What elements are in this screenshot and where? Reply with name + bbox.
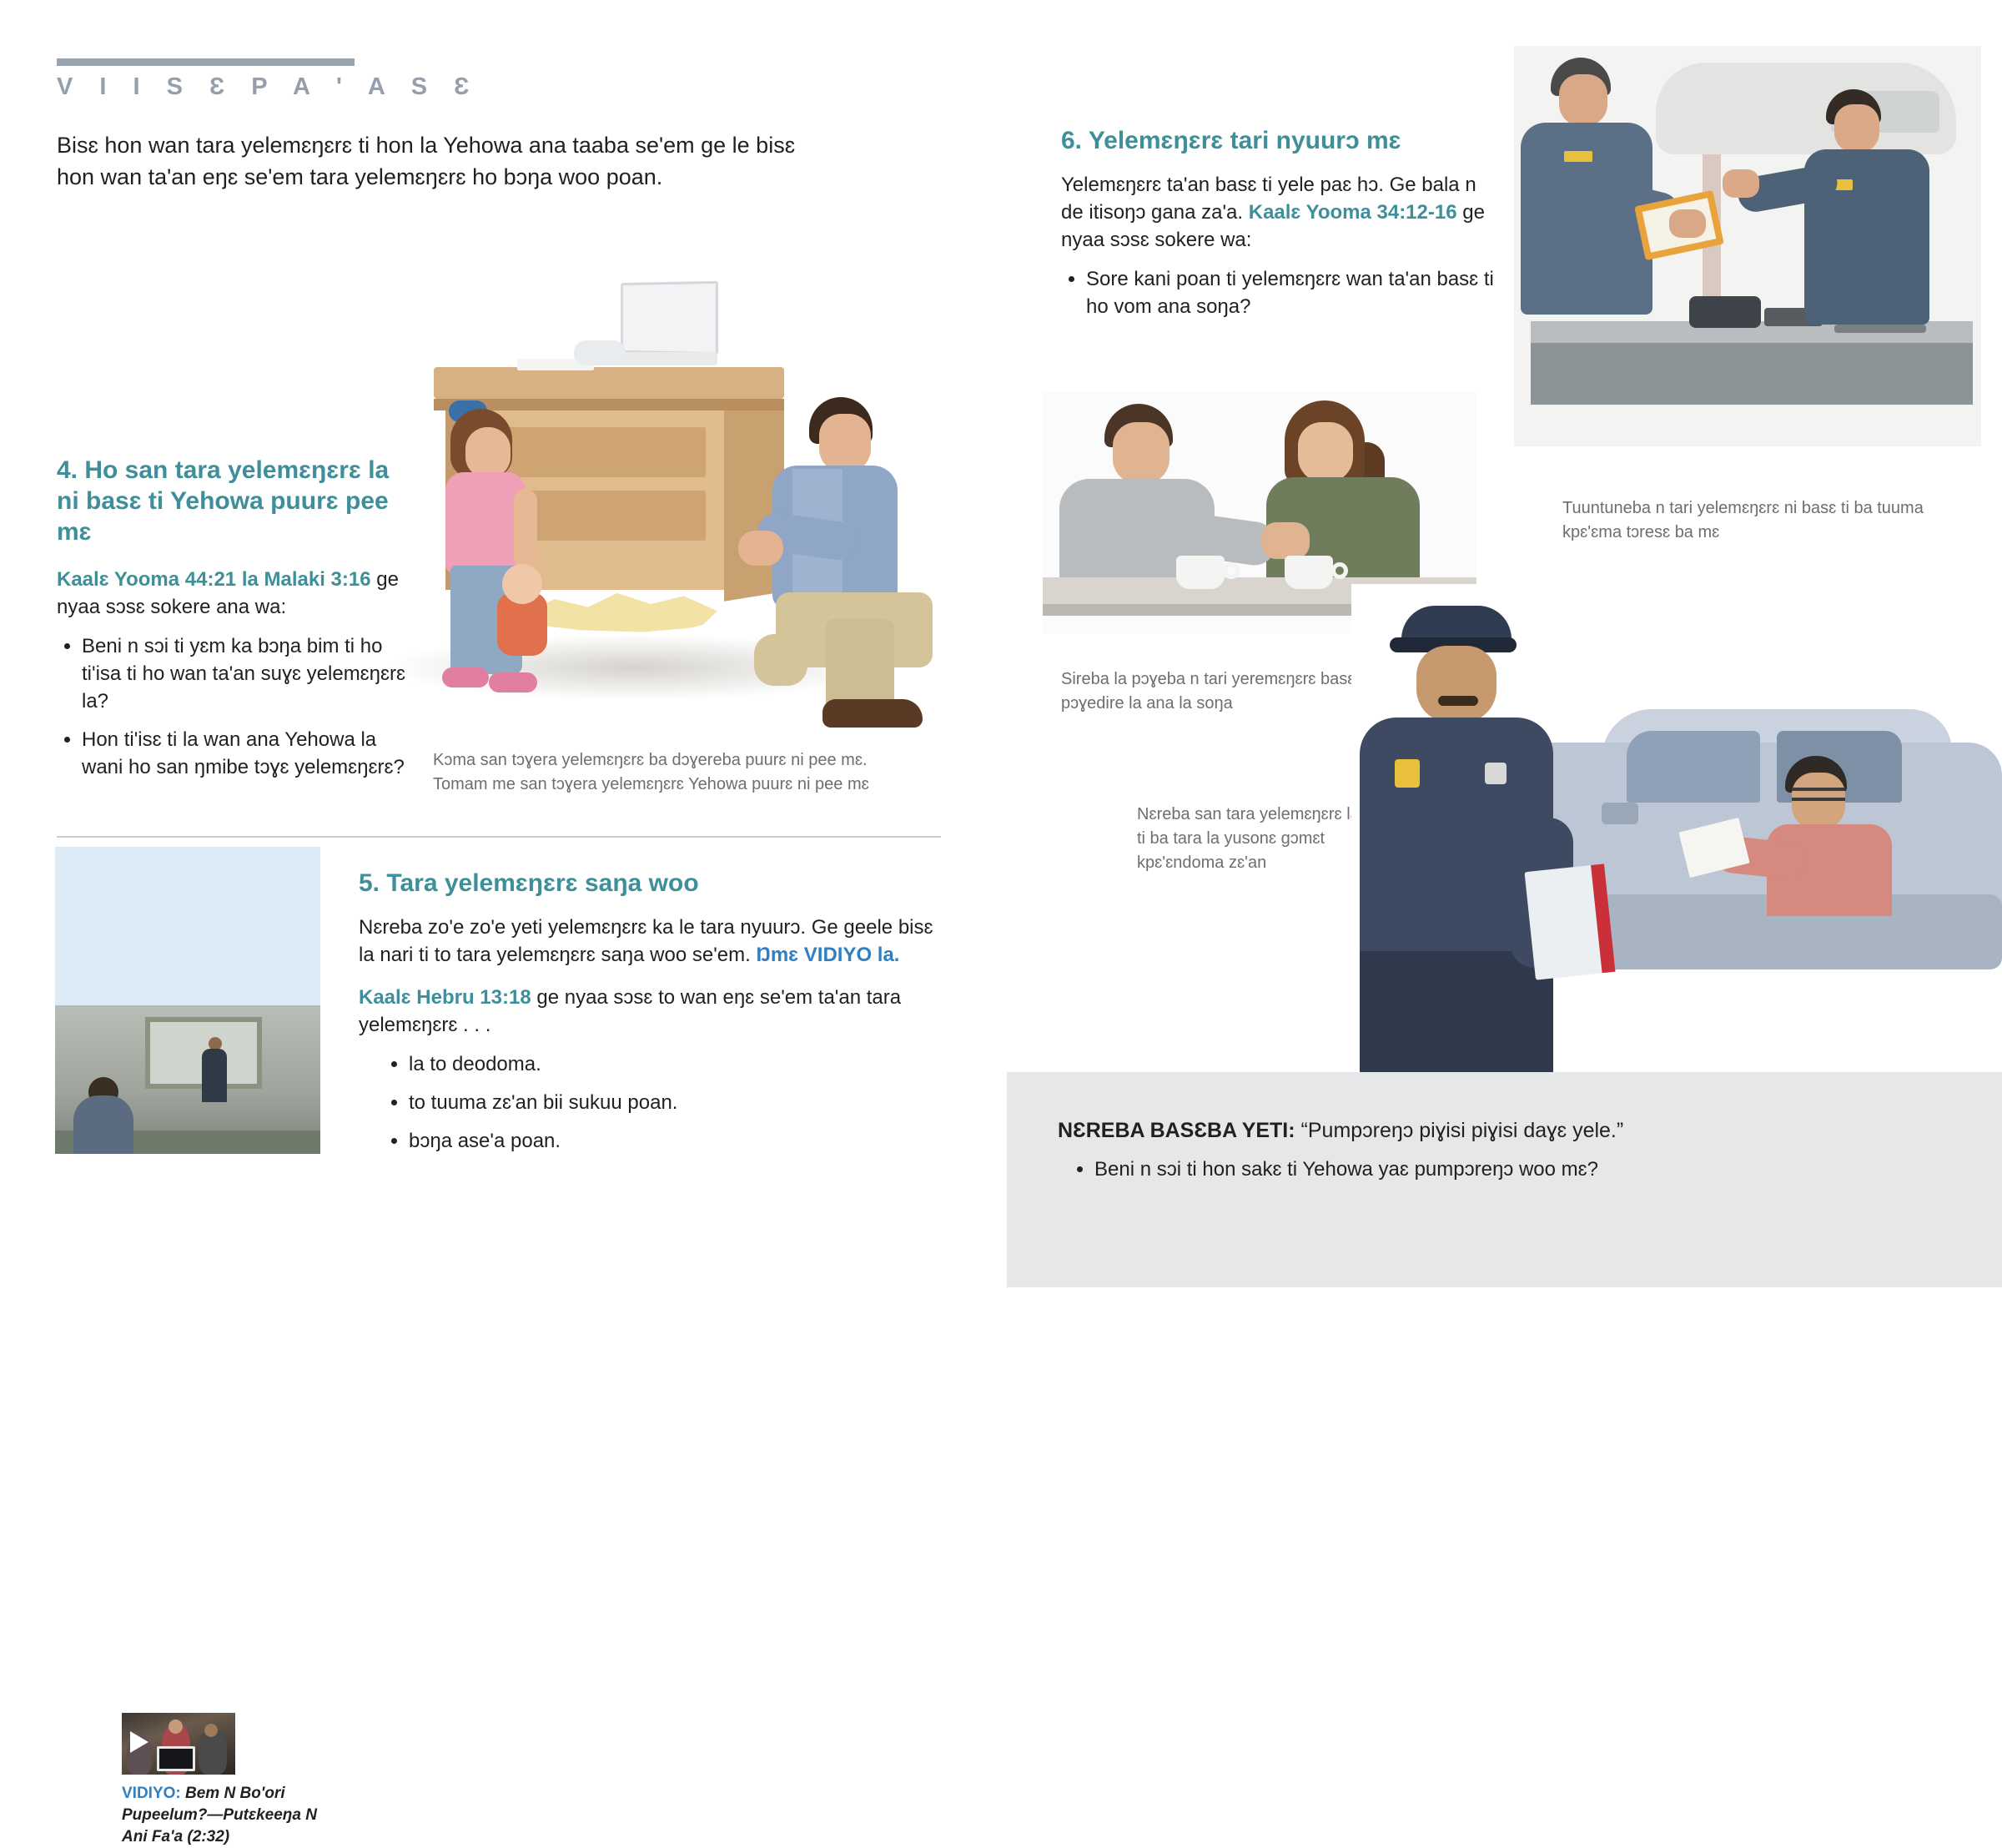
illus1-girl-arm [514,489,537,569]
illus1-man-face [819,414,871,472]
section-4-heading: 4. Ho san tara yelemɛŋɛrɛ la ni basɛ ti … [57,455,407,547]
illus3-mug-right [1285,556,1333,589]
bottom-panel-bullet-list: Beni n sɔi ti hon sakɛ ti Yehowa yaɛ pum… [1069,1156,1954,1183]
section-6-bullet-list: Sore kani poan ti yelemɛŋɛrɛ wan ta'an b… [1061,265,1495,320]
illus1-girl-shoe-left [442,667,489,687]
bottom-panel-quote: “Pumpɔreŋɔ piɣisi piɣisi daɣɛ yele.” [1295,1119,1624,1142]
list-item: bɔŋa ase'a poan. [409,1127,943,1155]
list-item: Hon ti'isɛ ti la wan ana Yehowa la wani … [82,726,407,781]
section-4: 4. Ho san tara yelemɛŋɛrɛ la ni basɛ ti … [57,455,407,792]
list-item: Beni n sɔi ti hon sakɛ ti Yehowa yaɛ pum… [1094,1156,1954,1183]
illustration-mechanics [1514,46,1981,446]
section-5-heading: 5. Tara yelemɛŋɛrɛ saŋa woo [359,868,943,899]
video-panel[interactable]: VIDIYO: Bem N Bo'ori Pupeelum?—Putɛkeeŋa… [55,847,320,1005]
section-6-heading: 6. Yelemɛŋɛrɛ tari nyuurɔ mɛ [1061,125,1495,156]
caption-mechanics: Tuuntuneba n tari yelemɛŋɛrɛ ni basɛ ti … [1562,496,1929,545]
bottom-panel-title: NƐREBA BASƐBA YETI: “Pumpɔreŋɔ piɣisi pi… [1058,1116,1959,1145]
illus1-girl-shoe-right [489,672,537,692]
illus4-driver-glasses [1792,788,1845,801]
illustration-father-daughter [359,242,943,743]
section-4-scripture-ref[interactable]: Kaalɛ Yooma 44:21 la Malaki 3:16 [57,568,371,591]
list-item: Sore kani poan ti yelemɛŋɛrɛ wan ta'an b… [1086,265,1495,320]
video-caption: VIDIYO: Bem N Bo'ori Pupeelum?—Putɛkeeŋa… [122,1783,330,1848]
illus4-police-badge [1395,759,1420,788]
section-5-paragraph: Nɛreba zo'e zo'e yeti yelemɛŋɛrɛ ka le t… [359,914,943,969]
illus2-tool-engine [1689,296,1761,328]
section-5-scripture-ref[interactable]: Kaalɛ Hebru 13:18 [359,986,531,1009]
illus1-laptop-screen [621,281,718,355]
photo-congregation-talk [55,1005,320,1154]
illus1-man-shoe [822,699,923,728]
section-6: 6. Yelemɛŋɛrɛ tari nyuurɔ mɛ Yelemɛŋɛrɛ … [1061,125,1495,331]
illus1-man-lower-leg [826,619,894,709]
bottom-panel: NƐREBA BASƐBA YETI: “Pumpɔreŋɔ piɣisi pi… [1007,1072,2002,1287]
section-5-scripture-line: Kaalɛ Hebru 13:18 ge nyaa sɔsɛ to wan eŋ… [359,984,943,1039]
section-4-scripture-line: Kaalɛ Yooma 44:21 la Malaki 3:16 ge nyaa… [57,566,407,621]
section-5: 5. Tara yelemɛŋɛrɛ saŋa woo Nɛreba zo'e … [359,868,943,1166]
illus2-tool-bar [1834,325,1926,333]
bottom-panel-label: NƐREBA BASƐBA YETI: [1058,1119,1295,1142]
illus1-girl-face [465,427,511,477]
page-root: V I I S Ɛ P A ' A S Ɛ Bisɛ hon wan tara … [0,0,2002,1287]
illus1-man-knee [754,634,807,686]
section-6-scripture-ref[interactable]: Kaalɛ Yooma 34:12-16 [1249,201,1457,224]
page-title: V I I S Ɛ P A ' A S Ɛ [57,73,479,101]
section-5-bullet-list: la to deodoma. to tuuma zɛ'an bii sukuu … [359,1050,943,1155]
video-link[interactable]: Ŋmɛ VIDIYO la. [756,944,899,966]
intro-paragraph: Bisɛ hon wan tara yelemɛŋɛrɛ ti hon la Y… [57,129,807,193]
list-item: to tuuma zɛ'an bii sukuu poan. [409,1089,943,1116]
video-label: VIDIYO: [122,1785,181,1802]
illus2-car [1656,63,1956,154]
list-item: la to deodoma. [409,1050,943,1078]
illustration-police-driver [1351,584,2002,1076]
play-triangle-icon[interactable] [130,1731,148,1753]
illus1-bottle [574,340,626,365]
caption-father-daughter: Kɔma san tɔɣera yelemɛŋɛrɛ ba dɔɣereba p… [433,748,917,797]
header-rule [57,58,355,66]
video-thumbnail[interactable] [122,1713,235,1775]
illus1-doll-head [502,564,542,604]
illus1-man-hand [738,531,783,566]
section-6-paragraph: Yelemɛŋɛrɛ ta'an basɛ ti yele paɛ hɔ. Ge… [1061,171,1495,254]
illus3-mug-left [1176,556,1225,589]
section-4-bullet-list: Beni n sɔi ti yɛm ka bɔŋa bim ti ho ti'i… [57,632,407,781]
illus1-desk-top [434,367,784,399]
list-item: Beni n sɔi ti yɛm ka bɔŋa bim ti ho ti'i… [82,632,407,715]
section-divider [57,836,941,838]
illus4-police-notebook [1524,864,1615,979]
